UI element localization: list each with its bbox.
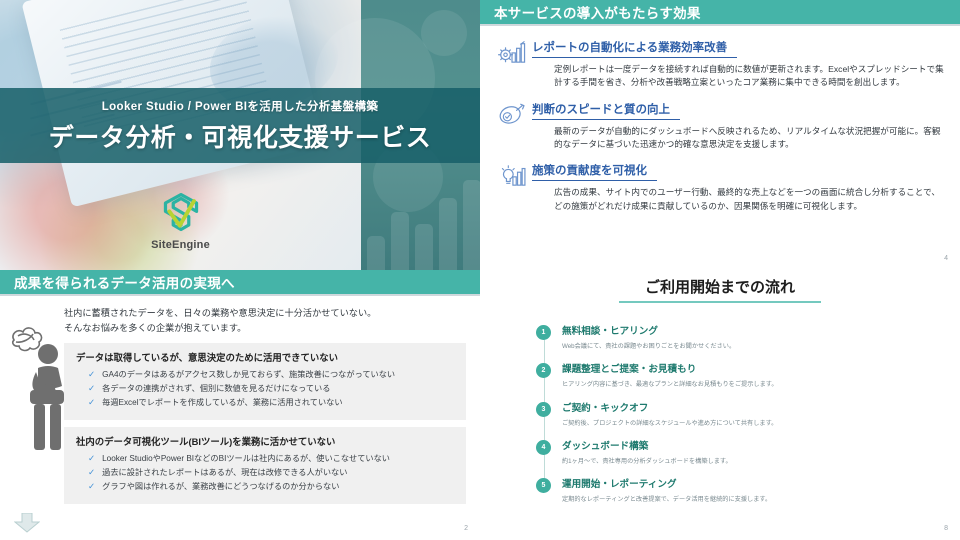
problem-panel: 成果を得られるデータ活用の実現へ 社内に蓄積されたデータを、日々の業務や意思決定… xyxy=(0,270,480,540)
check-icon: ✓ xyxy=(88,383,95,395)
thinking-person-icon xyxy=(8,318,74,453)
benefit-item: 施策の貢献度を可視化 広告の成果、サイト内でのユーザー行動、最終的な売上などを一… xyxy=(498,161,944,213)
step-title: 運用開始・レポーティング xyxy=(562,478,960,492)
problem-card: データは取得しているが、意思決定のために活用できていない ✓ GA4のデータはあ… xyxy=(64,343,466,420)
problem-bullet-text: グラフや図は作れるが、業務改善にどうつなげるのか分からない xyxy=(102,481,339,493)
benefits-panel: 本サービスの導入がもたらす効果 xyxy=(480,0,960,270)
step-number-badge: 4 xyxy=(536,440,551,455)
flow-step: 1 無料相談・ヒアリング Web会議にて、貴社の課題やお困りごとをお聞かせくださ… xyxy=(536,325,960,351)
flow-header: ご利用開始までの流れ xyxy=(480,270,960,303)
flow-step: 3 ご契約・キックオフ ご契約後、プロジェクトの詳細なスケジュールや進め方につい… xyxy=(536,402,960,428)
down-arrow-icon xyxy=(14,513,40,533)
check-icon: ✓ xyxy=(88,369,95,381)
siteengine-logo-text: SiteEngine xyxy=(151,239,210,251)
check-icon: ✓ xyxy=(88,481,95,493)
problem-bullet-text: GA4のデータはあるがアクセス数しか見ておらず、施策改善につながっていない xyxy=(102,369,395,381)
lightbulb-bar-chart-icon xyxy=(498,161,532,213)
problem-lead-line1: 社内に蓄積されたデータを、日々の業務や意思決定に十分活かせていない。 xyxy=(64,306,466,321)
hero-background: Looker Studio / Power BIを活用した分析基盤構築 データ分… xyxy=(0,0,480,270)
page-number: 2 xyxy=(464,525,468,532)
benefit-text: 最新のデータが自動的にダッシュボードへ反映されるため、リアルタイムな状況把握が可… xyxy=(532,125,944,152)
problem-bullet: ✓ Looker StudioやPower BIなどのBIツールは社内にあるが、… xyxy=(88,453,456,465)
step-description: ご契約後、プロジェクトの詳細なスケジュールや進め方について共有します。 xyxy=(562,419,960,428)
flow-step: 4 ダッシュボード構築 約1ヶ月〜で、貴社専用の分析ダッシュボードを構築します。 xyxy=(536,440,960,466)
step-description: ヒアリング内容に基づき、最適なプランと詳細なお見積もりをご提示します。 xyxy=(562,380,960,389)
siteengine-logo-icon xyxy=(160,192,202,236)
problem-bullet: ✓ 過去に設計されたレポートはあるが、現在は改修できる人がいない xyxy=(88,467,456,479)
step-number-badge: 2 xyxy=(536,363,551,378)
step-description: Web会議にて、貴社の課題やお困りごとをお聞かせください。 xyxy=(562,342,960,351)
benefit-heading: 施策の貢献度を可視化 xyxy=(532,164,657,181)
problem-card-heading: 社内のデータ可視化ツール(BIツール)を業務に活かせていない xyxy=(76,434,456,448)
problem-bullet: ✓ 各データの連携がされず、個別に数値を見るだけになっている xyxy=(88,383,456,395)
hero-panel: Looker Studio / Power BIを活用した分析基盤構築 データ分… xyxy=(0,0,480,270)
flow-step: 2 課題整理とご提案・お見積もり ヒアリング内容に基づき、最適なプランと詳細なお… xyxy=(536,363,960,389)
benefit-item: 判断のスピードと質の向上 最新のデータが自動的にダッシュボードへ反映されるため、… xyxy=(498,100,944,152)
benefits-band-title: 本サービスの導入がもたらす効果 xyxy=(480,0,960,24)
speedometer-icon xyxy=(498,100,532,152)
step-number-badge: 1 xyxy=(536,325,551,340)
benefit-text: 広告の成果、サイト内でのユーザー行動、最終的な売上などを一つの画面に統合し分析す… xyxy=(532,186,944,213)
slide-deck: Looker Studio / Power BIを活用した分析基盤構築 データ分… xyxy=(0,0,960,540)
problem-bullet-text: 各データの連携がされず、個別に数値を見るだけになっている xyxy=(102,383,330,395)
step-title: ご契約・キックオフ xyxy=(562,402,960,416)
step-title: ダッシュボード構築 xyxy=(562,440,960,454)
problem-bullet-text: 過去に設計されたレポートはあるが、現在は改修できる人がいない xyxy=(102,467,347,479)
problem-band-title: 成果を得られるデータ活用の実現へ xyxy=(0,270,480,294)
problem-card: 社内のデータ可視化ツール(BIツール)を業務に活かせていない ✓ Looker … xyxy=(64,427,466,504)
page-number: 4 xyxy=(944,255,948,262)
gear-bar-chart-icon xyxy=(498,38,532,90)
flow-title: ご利用開始までの流れ xyxy=(619,276,821,303)
check-icon: ✓ xyxy=(88,453,95,465)
benefits-list: レポートの自動化による業務効率改善 定例レポートは一度データを接続すれば自動的に… xyxy=(480,26,960,213)
problem-bullet: ✓ グラフや図は作れるが、業務改善にどうつなげるのか分からない xyxy=(88,481,456,493)
problem-cards: データは取得しているが、意思決定のために活用できていない ✓ GA4のデータはあ… xyxy=(64,343,466,504)
hero-subtitle: Looker Studio / Power BIを活用した分析基盤構築 xyxy=(102,98,379,114)
step-number-badge: 3 xyxy=(536,402,551,417)
problem-bullet: ✓ 毎週Excelでレポートを作成しているが、業務に活用されていない xyxy=(88,397,456,409)
benefit-heading: レポートの自動化による業務効率改善 xyxy=(532,41,737,58)
benefit-text: 定例レポートは一度データを接続すれば自動的に数値が更新されます。Excelやスプ… xyxy=(532,63,944,90)
step-title: 課題整理とご提案・お見積もり xyxy=(562,363,960,377)
problem-bullet-text: Looker StudioやPower BIなどのBIツールは社内にあるが、使い… xyxy=(102,453,390,465)
problem-card-heading: データは取得しているが、意思決定のために活用できていない xyxy=(76,350,456,364)
step-description: 約1ヶ月〜で、貴社専用の分析ダッシュボードを構築します。 xyxy=(562,457,960,466)
check-icon: ✓ xyxy=(88,397,95,409)
siteengine-logo: SiteEngine xyxy=(0,192,361,251)
step-description: 定期的なレポーティングと改善提案で、データ活用を継続的に支援します。 xyxy=(562,495,960,504)
problem-bullet: ✓ GA4のデータはあるがアクセス数しか見ておらず、施策改善につながっていない xyxy=(88,369,456,381)
flow-step: 5 運用開始・レポーティング 定期的なレポーティングと改善提案で、データ活用を継… xyxy=(536,478,960,504)
step-title: 無料相談・ヒアリング xyxy=(562,325,960,339)
page-number: 8 xyxy=(944,525,948,532)
check-icon: ✓ xyxy=(88,467,95,479)
hero-title: データ分析・可視化支援サービス xyxy=(49,118,432,154)
problem-lead: 社内に蓄積されたデータを、日々の業務や意思決定に十分活かせていない。 そんなお悩… xyxy=(64,306,466,336)
flow-panel: ご利用開始までの流れ 1 無料相談・ヒアリング Web会議にて、貴社の課題やお困… xyxy=(480,270,960,540)
step-number-badge: 5 xyxy=(536,478,551,493)
hero-title-band: Looker Studio / Power BIを活用した分析基盤構築 データ分… xyxy=(0,88,480,163)
problem-bullet-text: 毎週Excelでレポートを作成しているが、業務に活用されていない xyxy=(102,397,342,409)
benefit-item: レポートの自動化による業務効率改善 定例レポートは一度データを接続すれば自動的に… xyxy=(498,38,944,90)
flow-steps: 1 無料相談・ヒアリング Web会議にて、貴社の課題やお困りごとをお聞かせくださ… xyxy=(536,325,960,504)
problem-lead-line2: そんなお悩みを多くの企業が抱えています。 xyxy=(64,321,466,336)
benefit-heading: 判断のスピードと質の向上 xyxy=(532,103,680,120)
